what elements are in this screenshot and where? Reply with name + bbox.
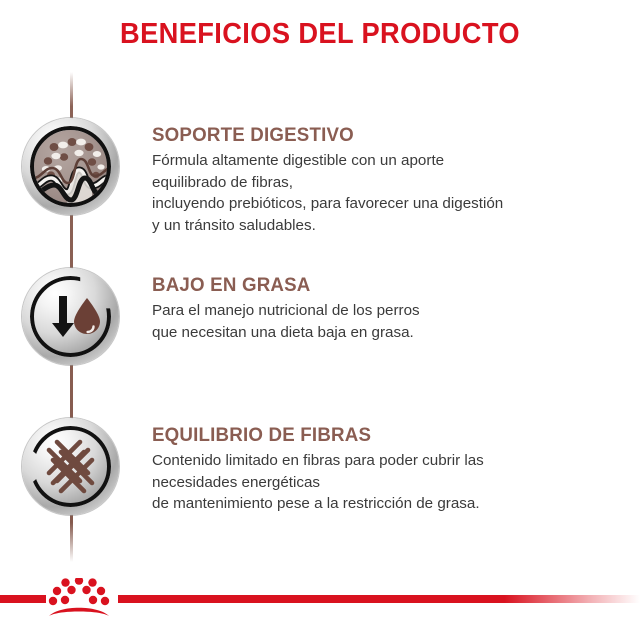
benefit-text: SOPORTE DIGESTIVO Fórmula altamente dige… (152, 124, 632, 236)
royal-canin-crown-logo (44, 578, 114, 622)
medallion-inner (30, 126, 111, 207)
benefit-title: SOPORTE DIGESTIVO (152, 124, 613, 147)
benefit-text: BAJO EN GRASA Para el manejo nutricional… (152, 274, 632, 343)
footer-bar-left (0, 595, 46, 603)
benefit-body: Contenido limitado en fibras para poder … (152, 450, 632, 515)
benefit-title: BAJO EN GRASA (152, 274, 613, 297)
icon-ring (30, 126, 111, 207)
digestive-tract-icon (22, 118, 119, 215)
icon-ring (30, 426, 111, 507)
benefit-title: EQUILIBRIO DE FIBRAS (152, 424, 613, 447)
benefit-body: Para el manejo nutricional de los perros… (152, 300, 632, 343)
page-title: BENEFICIOS DEL PRODUCTO (19, 18, 621, 51)
benefit-text: EQUILIBRIO DE FIBRAS Contenido limitado … (152, 424, 632, 515)
footer-bar-right (118, 595, 640, 603)
benefit-body: Fórmula altamente digestible con un apor… (152, 150, 632, 236)
medallion-inner (30, 426, 111, 507)
medallion-inner (30, 276, 111, 357)
fiber-lattice-icon (22, 418, 119, 515)
low-fat-drop-arrow-icon (22, 268, 119, 365)
footer (0, 554, 640, 640)
